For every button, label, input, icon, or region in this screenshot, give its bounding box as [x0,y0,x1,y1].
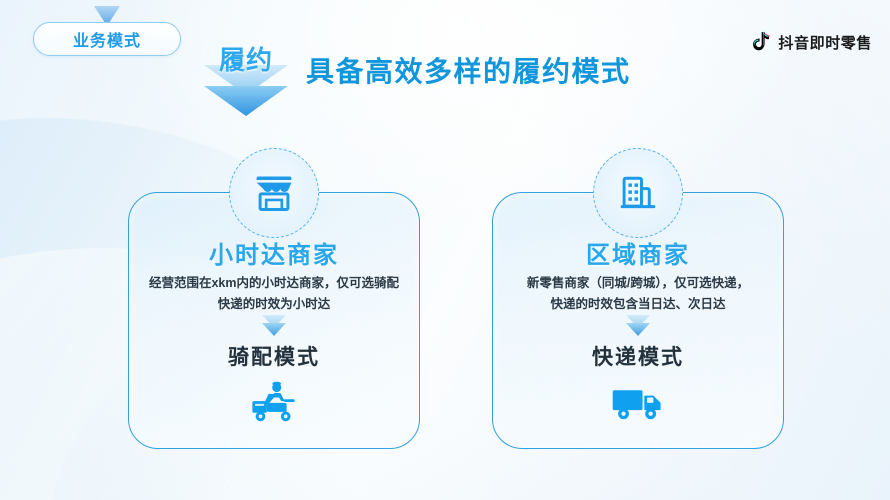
storefront-icon [229,148,319,238]
office-building-icon [593,148,683,238]
headline-kicker: 履约 [200,40,292,77]
slide-canvas: 业务模式 履约 具备高效多样的履约模式 抖音即时零售 [0,0,890,500]
card-description-line: 快递的时效为小时达 [141,294,407,315]
card-description-line: 经营范围在xkm内的小时达商家，仅可选骑配 [141,273,407,294]
page-title: 具备高效多样的履约模式 [306,50,631,90]
headline-kicker-block: 履约 [200,40,292,124]
section-badge: 业务模式 [33,22,181,56]
card-description-line: 快递的时效包含当日达、次日达 [505,294,771,315]
mode-label: 快递模式 [493,341,783,371]
delivery-truck-icon [493,381,783,423]
scooter-delivery-icon [129,381,419,423]
card-description-line: 新零售商家（同城/跨城），仅可选快递， [505,273,771,294]
brand-name: 抖音即时零售 [778,32,872,53]
card-title: 区域商家 [493,235,783,270]
card-description: 经营范围在xkm内的小时达商家，仅可选骑配 快递的时效为小时达 [141,273,407,315]
mode-label: 骑配模式 [129,341,419,371]
chevron-down-icon [262,315,286,339]
card-title: 小时达商家 [129,235,419,270]
card-regional-merchant[interactable]: 区域商家 新零售商家（同城/跨城），仅可选快递， 快递的时效包含当日达、次日达 … [492,192,784,449]
card-description: 新零售商家（同城/跨城），仅可选快递， 快递的时效包含当日达、次日达 [505,273,771,315]
headline: 履约 具备高效多样的履约模式 [200,40,631,124]
section-badge-label: 业务模式 [73,27,141,51]
douyin-music-note-icon [751,31,771,53]
section-badge-pill: 业务模式 [33,22,181,56]
card-hourly-merchant[interactable]: 小时达商家 经营范围在xkm内的小时达商家，仅可选骑配 快递的时效为小时达 骑配… [128,192,420,449]
brand-logo: 抖音即时零售 [751,31,872,53]
chevron-down-icon [626,315,650,339]
